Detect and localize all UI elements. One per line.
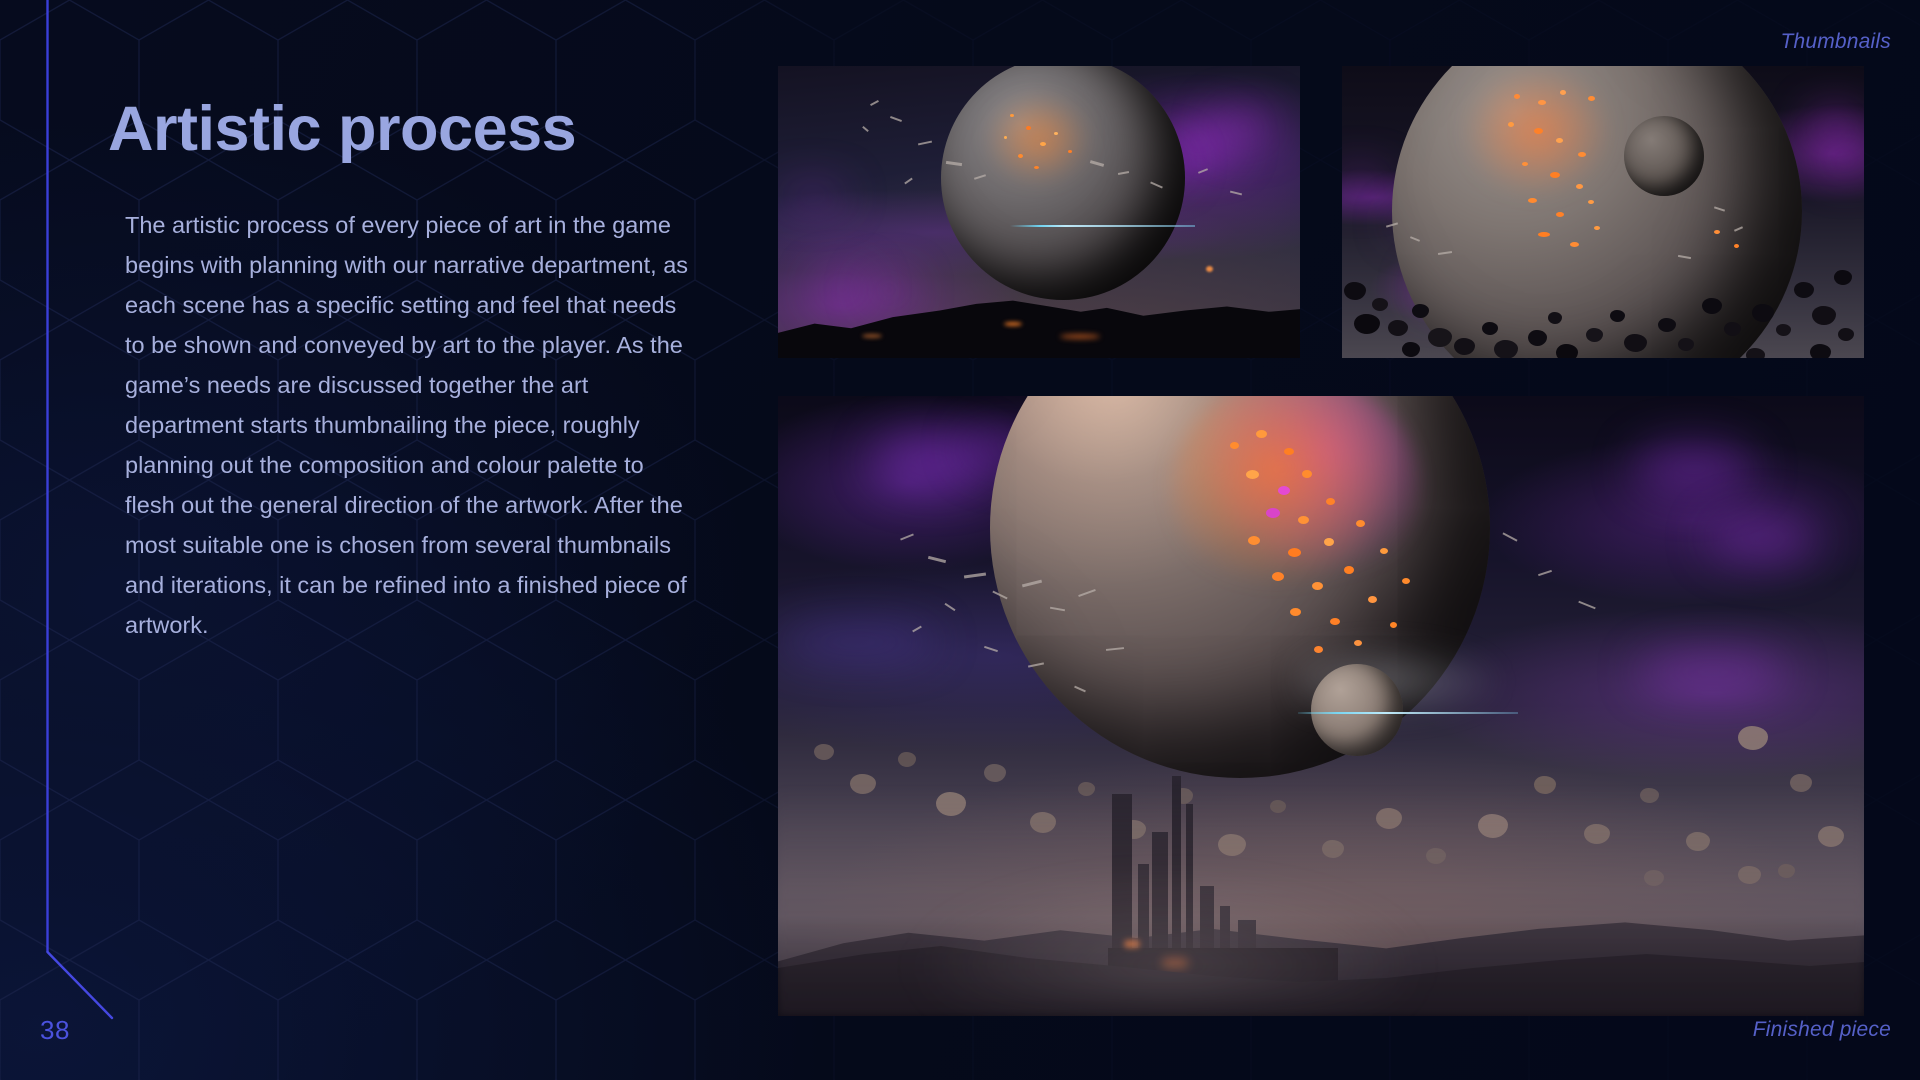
ember-spark [1576,184,1583,189]
ember-spark [1330,618,1340,625]
horizon-beam [1298,712,1518,714]
ember-spark [1594,226,1600,230]
ember-spark [1556,212,1564,217]
caption-finished-piece: Finished piece [1753,1018,1891,1042]
nebula-glow [1826,150,1864,172]
moon-sphere [1624,116,1704,196]
ember-spark [1578,152,1586,157]
ember-spark [1246,470,1259,479]
nebula-glow [1812,114,1858,138]
page-number: 38 [40,1015,70,1046]
ember-spark [1288,548,1301,557]
ember-spark [1522,162,1528,166]
asteroid [1494,340,1518,358]
planet-impact-glow [983,91,1093,186]
ember-spark [1004,136,1007,139]
artwork-thumbnail-1[interactable] [778,66,1300,358]
nebula-glow [1214,112,1274,142]
ember-spark [1298,516,1309,524]
ember-spark [1312,582,1323,590]
ember-spark [1734,244,1739,248]
finished-piece-artwork [778,396,1864,1016]
ember-spark [1326,498,1335,505]
ember-spark [1248,536,1260,545]
nebula-glow [1708,516,1818,562]
ember-spark [1324,538,1334,546]
ember-spark [1380,548,1388,554]
ember-spark [1054,132,1058,135]
ember-spark [1514,94,1520,99]
ember-spark [1040,142,1046,146]
ember-spark [1302,470,1312,478]
ember-spark [1230,442,1239,449]
ember-spark [1284,448,1294,455]
thumbnail-2-artwork [1342,66,1864,358]
thumbnail-1-artwork [778,66,1300,358]
ember-spark [1538,232,1550,237]
slide-canvas: Artistic process The artistic process of… [0,0,1920,1080]
asteroid [1810,344,1831,358]
ember-spark [1588,200,1594,204]
ember-spark [1550,172,1560,178]
ember-spark [1570,242,1579,247]
nebula-glow [778,186,848,204]
ember-spark [1018,154,1023,158]
ember-spark [1534,128,1543,134]
ember-spark-magenta [1266,508,1280,518]
ember-spark [1026,126,1031,130]
ember-spark [1508,122,1514,127]
ember-spark [1368,596,1377,603]
ember-spark [1356,520,1365,527]
nebula-glow [818,278,868,300]
lava-glow [1206,266,1213,272]
ember-spark [1588,96,1595,101]
ember-spark [1402,578,1410,584]
horizon-beam [1010,225,1195,227]
ember-spark [1344,566,1354,574]
ember-spark [1390,622,1397,628]
atmospheric-haze [778,786,1864,1016]
ember-spark [1528,198,1537,203]
page-title: Artistic process [108,96,708,162]
nebula-glow [866,280,912,300]
ember-spark [1290,608,1301,616]
ember-spark [1034,166,1039,169]
ember-spark [1556,138,1563,143]
ember-spark [1560,90,1566,95]
body-paragraph: The artistic process of every piece of a… [125,205,695,645]
ember-spark-magenta [1278,486,1290,495]
ember-spark [1714,230,1720,234]
ember-spark [1068,150,1072,153]
lava-glow [1004,322,1022,326]
asteroid [1746,348,1765,358]
ember-spark [1538,100,1546,105]
artwork-finished-piece[interactable] [778,396,1864,1016]
ember-spark [1256,430,1267,438]
caption-thumbnails: Thumbnails [1780,30,1891,54]
ember-spark [1010,114,1014,117]
moon-sphere [1311,664,1403,756]
asteroid [1556,344,1578,358]
lava-glow [862,334,882,338]
nebula-glow [1634,442,1754,494]
nebula-glow [1638,652,1788,692]
artwork-thumbnail-2[interactable] [1342,66,1864,358]
text-column: Artistic process The artistic process of… [108,96,708,645]
lava-glow [1060,334,1100,339]
ember-spark [1272,572,1284,581]
